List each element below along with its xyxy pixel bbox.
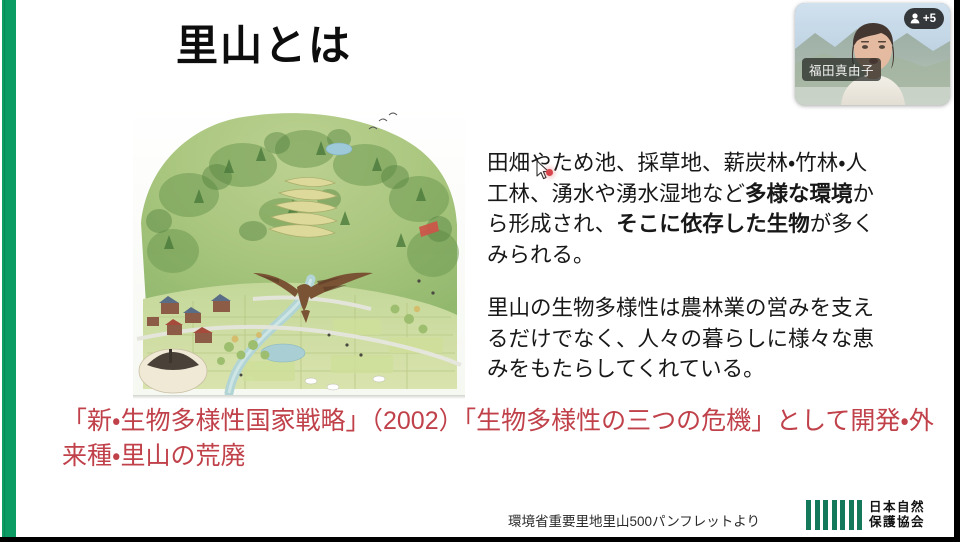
laser-pointer-dot — [546, 169, 553, 176]
satoyama-illustration — [133, 103, 465, 395]
body-paragraph-2: 里山の生物多様性は農林業の営みを支えるだけでなく、人々の暮らしに様々な恵みをもた… — [487, 293, 887, 385]
participant-count-badge[interactable]: +5 — [904, 8, 944, 29]
participant-overflow-count: +5 — [923, 13, 936, 25]
logo-text-line-2: 保護協会 — [869, 515, 925, 530]
body-paragraph-1: 田畑やため池、採草地、薪炭林・竹林・人工林、湧水や湧水湿地など多様な環境から形成… — [487, 148, 887, 271]
logo-text: 日本自然 保護協会 — [869, 500, 925, 531]
logo-text-line-1: 日本自然 — [869, 500, 925, 515]
slide-title: 里山とは — [176, 22, 352, 70]
person-icon — [910, 13, 920, 24]
participant-video-tile[interactable]: +5 福田真由子 — [795, 3, 950, 105]
participant-name-label: 福田真由子 — [802, 58, 881, 81]
slide-accent-bar — [2, 0, 16, 537]
red-annotation-text: 「新・生物多様性国家戦略」（2002）「生物多様性の三つの危機」として開発・外来… — [62, 404, 942, 473]
logo-bars-icon — [806, 500, 862, 530]
screen-share-frame: 里山とは — [0, 0, 960, 542]
illustration-shadow — [133, 395, 465, 399]
nacsj-logo: 日本自然 保護協会 — [806, 500, 925, 531]
source-caption: 環境省重要里地里山500パンフレットより — [508, 510, 760, 530]
